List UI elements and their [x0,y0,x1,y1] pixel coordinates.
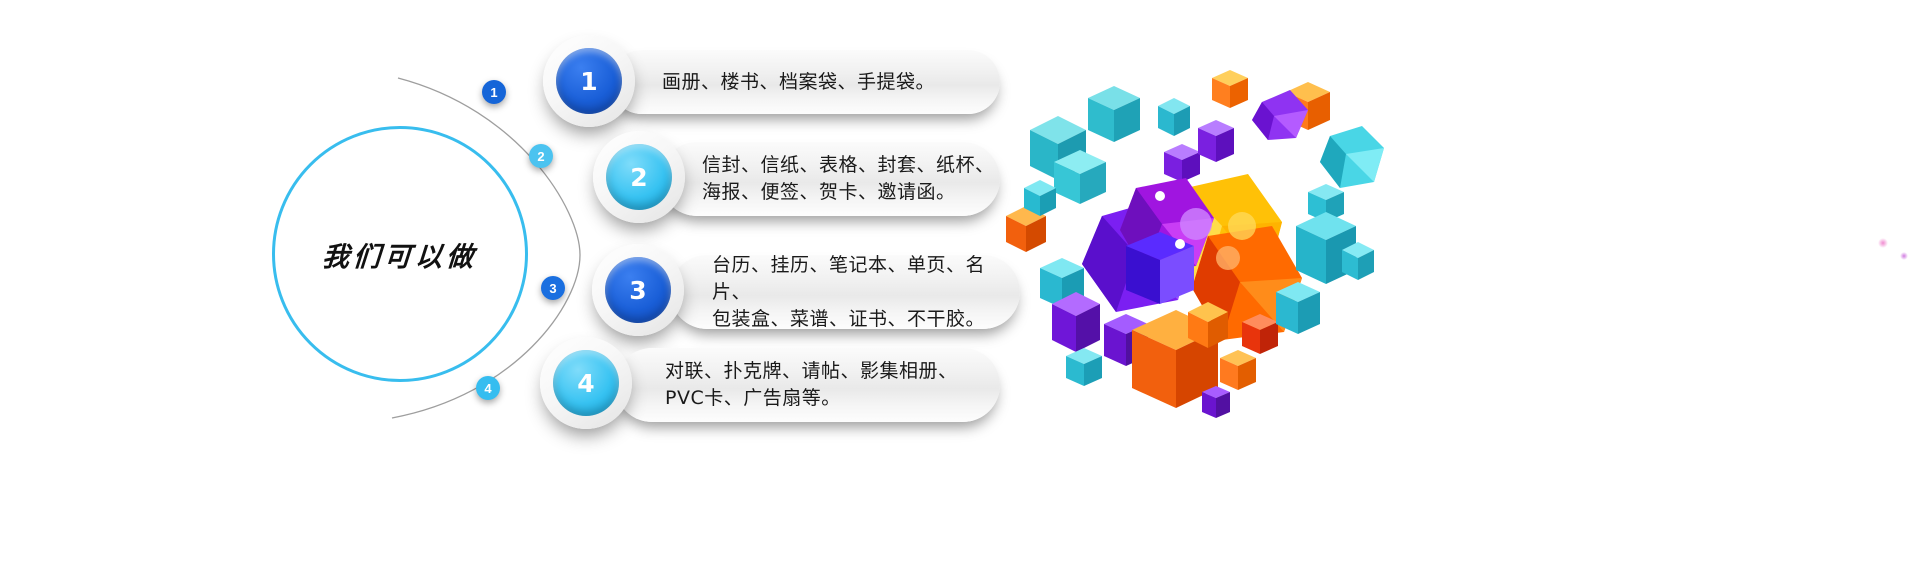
row-4-badge-number: 4 [577,369,594,398]
arc-dot-4-label: 4 [484,381,491,396]
polygon-cluster-graphic [990,40,1410,460]
arc-dot-2-label: 2 [537,149,544,164]
row-1-badge: 1 [556,48,622,114]
arc-dot-3-label: 3 [549,281,556,296]
arc-dot-2[interactable]: 2 [529,144,553,168]
cube-teal-b [1088,86,1140,142]
row-4-text: 对联、扑克牌、请帖、影集相册、 PVC卡、广告扇等。 [665,358,958,412]
row-3-badge-ring[interactable]: 3 [592,244,684,336]
row-1-badge-ring[interactable]: 1 [543,35,635,127]
row-2-text: 信封、信纸、表格、封套、纸杯、 海报、便签、贺卡、邀请函。 [702,152,995,206]
row-2-badge: 2 [606,144,672,210]
polygon-cluster-svg [990,40,1410,460]
cube-orange-mid-right [1220,350,1256,390]
arc-dot-1-label: 1 [490,85,497,100]
row-1-pill: 画册、楼书、档案袋、手提袋。 [610,50,1000,114]
arc-dot-3[interactable]: 3 [541,276,565,300]
row-3-text: 台历、挂历、笔记本、单页、名片、 包装盒、菜谱、证书、不干胶。 [712,252,1020,333]
infographic-canvas: 我们可以做 1 2 3 4 画册、楼书、档案袋、手提袋。 1 信封、信纸、表格、… [0,0,1920,588]
row-4-badge: 4 [553,350,619,416]
row-2-badge-number: 2 [630,163,647,192]
cube-violet-upper-right [1198,120,1234,162]
arc-dot-4[interactable]: 4 [476,376,500,400]
cube-red-bottom [1242,314,1278,354]
circle-accent-yellow [1228,212,1256,240]
cube-cyan-far-right [1342,242,1374,280]
row-2-pill: 信封、信纸、表格、封套、纸杯、 海报、便签、贺卡、邀请函。 [660,142,1000,216]
row-1-badge-number: 1 [580,67,597,96]
row-2-badge-ring[interactable]: 2 [593,131,685,223]
row-3-badge: 3 [605,257,671,323]
circle-accent-peach [1216,246,1240,270]
cube-teal-mid-upper [1158,98,1190,136]
cube-purple-bottom-a [1052,292,1100,352]
pink-speck [1878,238,1888,248]
row-3-badge-number: 3 [629,276,646,305]
arc-dot-1[interactable]: 1 [482,80,506,104]
cube-orange-small-a [1212,70,1248,108]
row-4-pill: 对联、扑克牌、请帖、影集相册、 PVC卡、广告扇等。 [615,348,1000,422]
cube-cyan-bottom-b [1066,348,1102,386]
row-3-pill: 台历、挂历、笔记本、单页、名片、 包装盒、菜谱、证书、不干胶。 [670,255,1020,329]
polyhedron-teal-right [1320,126,1384,188]
row-4-badge-ring[interactable]: 4 [540,337,632,429]
pink-speck-2 [1900,252,1908,260]
row-1-text: 画册、楼书、档案袋、手提袋。 [662,69,935,96]
circle-accent-violet [1180,208,1212,240]
cube-teal-bottom-right [1276,282,1320,334]
dot-white-b [1155,191,1165,201]
cube-purple-tiny-bottom [1202,386,1230,418]
cube-purple-small-a [1164,144,1200,182]
dot-white-a [1175,239,1185,249]
